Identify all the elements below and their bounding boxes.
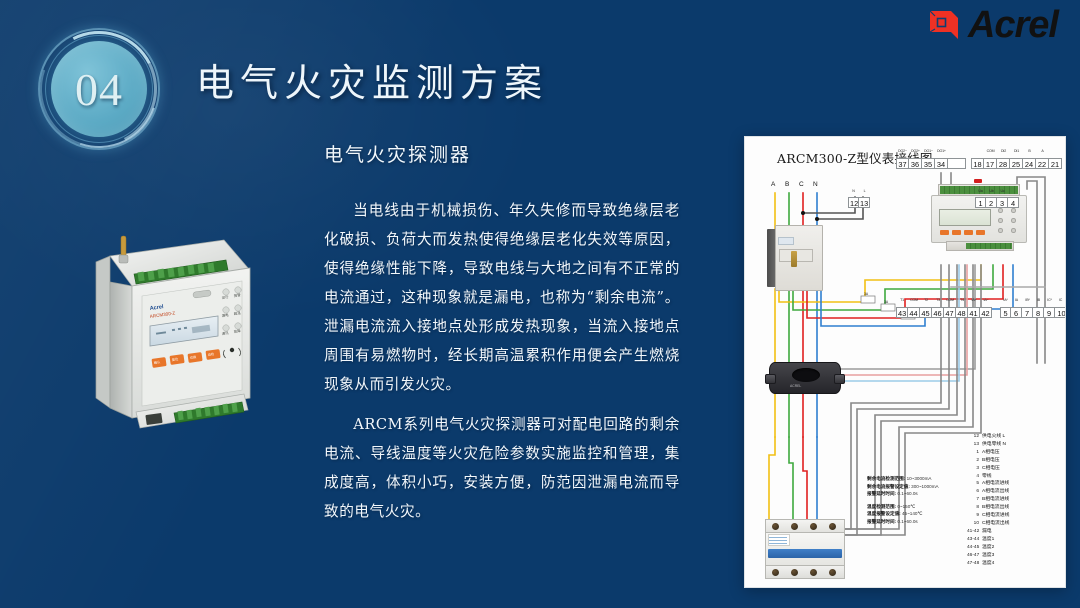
legend-item: 9C相电流进线: [967, 512, 1063, 520]
spec-row-3: 温度检测范围: 0~150℃: [867, 503, 969, 511]
terminal-microlabels-mid-left: N L: [848, 189, 870, 193]
mcb-top-screw-3: [810, 523, 817, 530]
terminal-strip-mid-left[interactable]: 12 13: [848, 197, 870, 208]
terminal-13[interactable]: 13: [859, 197, 870, 208]
terminal-45[interactable]: 45: [920, 307, 932, 318]
mcb-top-screw-1: [772, 523, 779, 530]
legend-item: 46-47温度3: [967, 552, 1063, 560]
meter-lcd: [939, 209, 991, 226]
rct-left-terminal: [765, 374, 776, 384]
legend-item: 10C相电流出线: [967, 520, 1063, 528]
phase-label-c: C: [799, 181, 804, 188]
spec-row-2: 报警延时时间: 0.1~60.0s: [867, 490, 969, 498]
terminal-strip-top-left[interactable]: 37 36 35 34: [896, 158, 966, 169]
legend-item: 47-48温度4: [967, 560, 1063, 568]
molded-case-breaker: [767, 225, 823, 291]
svg-text:故障: 故障: [233, 328, 241, 334]
svg-text:报警: 报警: [233, 292, 241, 298]
mccb-toggle-lever[interactable]: [791, 251, 797, 267]
terminal-47[interactable]: 47: [944, 307, 956, 318]
rct-label: ACREL: [790, 384, 801, 388]
svg-text:3A: 3A: [864, 292, 869, 296]
spec-row-0: 剩余电流检测范围: 10~3000mA: [867, 475, 969, 483]
terminal-1[interactable]: 1: [975, 197, 986, 208]
terminal-18[interactable]: 18: [971, 158, 984, 169]
meter-indicator-5: [998, 228, 1003, 233]
svg-text:3A: 3A: [884, 300, 889, 304]
meter-led-indicator: [974, 179, 982, 183]
mcb-nameplate-line-2: [769, 540, 787, 541]
mccb-label: [778, 237, 794, 245]
legend-item: 12供电火线 L: [967, 433, 1063, 441]
rct-aperture: [792, 368, 820, 382]
product-photo: Acrel ARCM300-Z 运: [92, 222, 282, 432]
residual-current-transformer: ACREL: [769, 362, 841, 394]
terminal-7[interactable]: 7: [1022, 307, 1033, 318]
terminal-legend: 12供电火线 L 13供电零线 N 1A相电压 2B相电压 3C相电压 4零线 …: [967, 433, 1063, 567]
meter-indicator-6: [1011, 228, 1016, 233]
legend-item: 4零线: [967, 473, 1063, 481]
terminal-24[interactable]: 24: [1023, 158, 1036, 169]
terminal-strip-mid-right[interactable]: 1 2 3 4: [975, 197, 1019, 208]
svg-text:漏电: 漏电: [221, 312, 229, 318]
svg-text:运行: 运行: [221, 294, 229, 300]
meter-button-3[interactable]: [964, 230, 973, 235]
meter-bottom-terminals: [966, 243, 1012, 249]
terminal-12[interactable]: 12: [848, 197, 859, 208]
meter-button-4[interactable]: [976, 230, 985, 235]
mcb-bottom-screw-3: [810, 569, 817, 576]
legend-item: 5A相电流进线: [967, 480, 1063, 488]
legend-item: 44-45温度2: [967, 544, 1063, 552]
legend-item: 1A相电压: [967, 449, 1063, 457]
svg-text:通讯: 通讯: [221, 330, 229, 336]
spec-row-1: 剩余电流报警设定值: 300~1000mA: [867, 483, 969, 491]
terminal-35[interactable]: 35: [922, 158, 935, 169]
terminal-42[interactable]: 42: [980, 307, 992, 318]
brand-logo: Acrel: [927, 8, 1058, 42]
terminal-10[interactable]: 10: [1055, 307, 1066, 318]
badge-number: 04: [75, 63, 123, 116]
acrel-mark-icon: [927, 8, 961, 42]
legend-item: 2B相电压: [967, 457, 1063, 465]
terminal-3[interactable]: 3: [997, 197, 1008, 208]
legend-item: 41-42漏电: [967, 528, 1063, 536]
terminal-25[interactable]: 25: [1010, 158, 1023, 169]
terminal-5[interactable]: 5: [1000, 307, 1011, 318]
terminal-28[interactable]: 28: [997, 158, 1010, 169]
brand-name: Acrel: [968, 8, 1058, 42]
spec-row-4: 温度报警设定值: 45~140℃: [867, 510, 969, 518]
section-number-badge: 04: [38, 28, 160, 150]
terminal-2[interactable]: 2: [986, 197, 997, 208]
legend-item: 3C相电压: [967, 465, 1063, 473]
rct-right-terminal: [834, 374, 845, 384]
meter-indicator-4: [1011, 218, 1016, 223]
spec-row-5: 报警延时时间: 0.1~60.0s: [867, 518, 969, 526]
terminal-22[interactable]: 22: [1036, 158, 1049, 169]
terminal-34[interactable]: 34: [935, 158, 948, 169]
terminal-6[interactable]: 6: [1011, 307, 1022, 318]
terminal-microlabels-top-left: DO2− DO2+ DO1− DO1+: [896, 149, 948, 153]
mcb-bottom-screw-2: [791, 569, 798, 576]
meter-button-2[interactable]: [952, 230, 961, 235]
specification-box: 剩余电流检测范围: 10~3000mA 剩余电流报警设定值: 300~1000m…: [867, 475, 969, 526]
terminal-8[interactable]: 8: [1033, 307, 1044, 318]
paragraph-2: ARCM系列电气火灾探测器可对配电回路的剩余电流、导线温度等火灾危险参数实施监控…: [324, 410, 680, 526]
legend-item: 8B相电流出线: [967, 504, 1063, 512]
terminal-microlabels-low-right: IA* IA IB* IB IC* IC: [1000, 298, 1066, 302]
terminal-41[interactable]: 41: [968, 307, 980, 318]
terminal-microlabels-mid-right: Ua Ub Uc: [975, 189, 1008, 193]
page-title: 电气火灾监测方案: [196, 52, 548, 107]
miniature-circuit-breaker: [765, 519, 845, 579]
mcb-bottom-screw-4: [829, 569, 836, 576]
terminal-21[interactable]: 21: [1049, 158, 1062, 169]
meter-button-1[interactable]: [940, 230, 949, 235]
badge-core: 04: [51, 41, 147, 137]
terminal-microlabels-top-right: COM DI2 DI1 B A: [984, 149, 1049, 153]
mcb-nameplate-line-3: [769, 543, 787, 544]
mcb-top-screw-2: [791, 523, 798, 530]
legend-item: 13供电零线 N: [967, 441, 1063, 449]
phase-label-b: B: [785, 181, 789, 188]
phase-label-n: N: [813, 181, 818, 188]
mcb-top-screw-4: [829, 523, 836, 530]
terminal-strip-top-right[interactable]: 18 17 28 25 24 22 21: [971, 158, 1062, 169]
terminal-microlabels-low-left: T1 COM T2 T3 COM T4 IΔ+ IΔ−: [896, 298, 992, 302]
legend-item: 6A相电流出线: [967, 488, 1063, 496]
legend-item: 43-44温度1: [967, 536, 1063, 544]
mcb-bottom-screw-1: [772, 569, 779, 576]
terminal-43[interactable]: 43: [896, 307, 908, 318]
legend-item: 7B相电流进线: [967, 496, 1063, 504]
terminal-46[interactable]: 46: [932, 307, 944, 318]
terminal-strip-low-right[interactable]: 5 6 7 8 9 10: [1000, 307, 1066, 318]
meter-indicator-3: [998, 218, 1003, 223]
terminal-4[interactable]: 4: [1008, 197, 1019, 208]
svg-text:超温: 超温: [233, 310, 241, 316]
terminal-blank: [948, 158, 966, 169]
terminal-44[interactable]: 44: [908, 307, 920, 318]
terminal-strip-low-left[interactable]: 43 44 45 46 47 48 41 42: [896, 307, 992, 318]
slide-canvas: Acrel 04 电气火灾监测方案 电气火灾探测器 当电线由于机械损伤、年久失修…: [0, 0, 1080, 608]
mcb-toggle-bar[interactable]: [768, 549, 842, 558]
body-copy: 当电线由于机械损伤、年久失修而导致绝缘层老化破损、负荷大而发热使得绝缘层老化失效…: [324, 196, 680, 526]
wiring-diagram-card: ARCM300-Z型仪表接线图: [744, 136, 1066, 588]
terminal-36[interactable]: 36: [909, 158, 922, 169]
terminal-37[interactable]: 37: [896, 158, 909, 169]
paragraph-1: 当电线由于机械损伤、年久失修而导致绝缘层老化破损、负荷大而发热使得绝缘层老化失效…: [324, 196, 680, 399]
terminal-9[interactable]: 9: [1044, 307, 1055, 318]
terminal-17[interactable]: 17: [984, 158, 997, 169]
phase-label-a: A: [771, 181, 775, 188]
mcb-nameplate-line-1: [769, 537, 787, 538]
terminal-48[interactable]: 48: [956, 307, 968, 318]
page-subtitle: 电气火灾探测器: [324, 140, 471, 167]
